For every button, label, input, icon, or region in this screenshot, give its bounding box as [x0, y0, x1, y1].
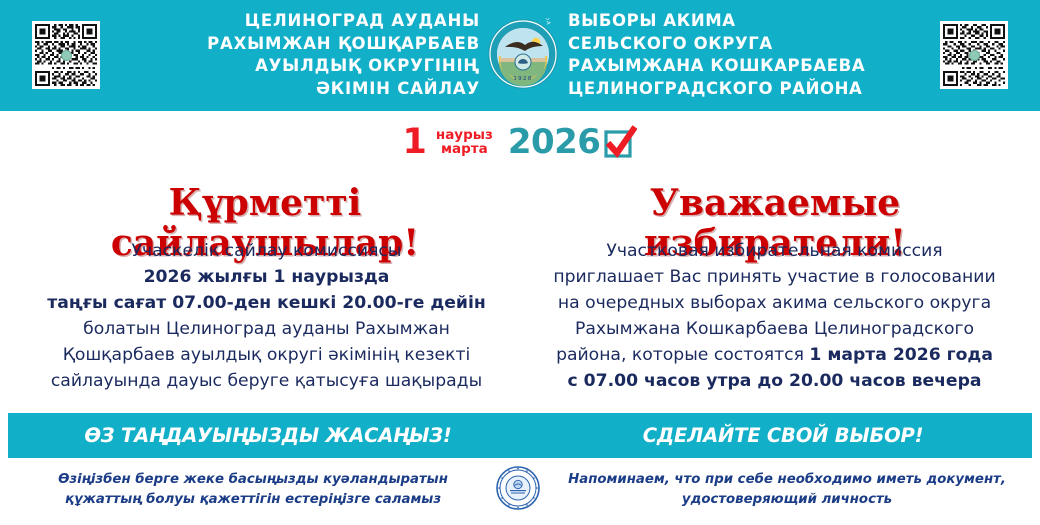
- slogan-band: ӨЗ ТАҢДАУЫҢЫЗДЫ ЖАСАҢЫЗ! СДЕЛАЙТЕ СВОЙ В…: [8, 413, 1032, 458]
- election-date-row: 1 наурыз марта 2026: [0, 118, 1040, 166]
- body-ru-line-5-highlight: 1 марта 2026 года: [809, 345, 993, 365]
- qr-code-right-image: [943, 24, 1005, 86]
- footer-kk-line-1: Өзіңізбен берге жеке басыңызды куәландыр…: [18, 470, 488, 490]
- qr-code-left[interactable]: [32, 21, 100, 89]
- footer-ru-line-2: удостоверяющий личность: [552, 490, 1022, 510]
- body-ru-line-2: приглашает Вас принять участие в голосов…: [522, 264, 1027, 290]
- slogan-kazakh: ӨЗ ТАҢДАУЫҢЫЗДЫ ЖАСАҢЫЗ!: [18, 424, 518, 447]
- slogan-russian: СДЕЛАЙТЕ СВОЙ ВЫБОР!: [538, 424, 1028, 447]
- header-title-russian: ВЫБОРЫ АКИМА СЕЛЬСКОГО ОКРУГА РАХЫМЖАНА …: [568, 10, 958, 100]
- header-title-kk-line-3: АУЫЛДЫҚ ОКРУГІНІҢ: [150, 55, 480, 78]
- header-band: ЦЕЛИНОГРАД АУДАНЫ РАХЫМЖАН ҚОШҚАРБАЕВ АУ…: [0, 0, 1040, 111]
- body-ru-line-3: на очередных выборах акима сельского окр…: [522, 290, 1027, 316]
- body-kk-line-1: Учаскелік сайлау комиссиясы: [14, 238, 519, 264]
- header-title-ru-line-4: ЦЕЛИНОГРАДСКОГО РАЙОНА: [568, 78, 958, 101]
- body-kk-line-6: сайлауында дауыс беруге қатысуға шақырад…: [14, 368, 519, 394]
- body-text-kazakh: Учаскелік сайлау комиссиясы 2026 жылғы 1…: [14, 238, 519, 394]
- election-year: 2026: [508, 125, 601, 159]
- body-text-russian: Участковая избирательная комиссия пригла…: [522, 238, 1027, 394]
- qr-center-logo: [61, 50, 72, 61]
- body-kk-line-4: болатын Целиноград ауданы Рахымжан: [14, 316, 519, 342]
- qr-code-right[interactable]: [940, 21, 1008, 89]
- qr-code-left-image: [35, 24, 97, 86]
- election-day-number: 1: [403, 125, 427, 160]
- celinograd-district-coat-of-arms-icon: 1928 SELINOGRAD AYDANY: [487, 18, 559, 90]
- body-kk-line-3: таңғы сағат 07.00-ден кешкі 20.00-ге дей…: [14, 290, 519, 316]
- body-ru-line-5-plain: района, которые состоятся: [556, 345, 809, 365]
- header-title-kk-line-4: ӘКІМІН САЙЛАУ: [150, 78, 480, 101]
- election-commission-seal-icon: [496, 466, 540, 510]
- election-month-russian: марта: [436, 142, 493, 157]
- qr-center-logo: [969, 50, 980, 61]
- coat-of-arms-year: 1928: [513, 76, 532, 82]
- checked-ballot-box-icon: [601, 124, 637, 160]
- election-month-kazakh: наурыз: [436, 128, 493, 143]
- body-ru-line-6: с 07.00 часов утра до 20.00 часов вечера: [522, 368, 1027, 394]
- footer-note-kazakh: Өзіңізбен берге жеке басыңызды куәландыр…: [18, 470, 488, 510]
- election-month-names: наурыз марта: [436, 128, 493, 157]
- body-ru-line-5: района, которые состоятся 1 марта 2026 г…: [522, 342, 1027, 368]
- body-ru-line-1: Участковая избирательная комиссия: [522, 238, 1027, 264]
- body-kk-line-2: 2026 жылғы 1 наурызда: [14, 264, 519, 290]
- header-title-kk-line-1: ЦЕЛИНОГРАД АУДАНЫ: [150, 10, 480, 33]
- header-title-kk-line-2: РАХЫМЖАН ҚОШҚАРБАЕВ: [150, 33, 480, 56]
- header-title-kazakh: ЦЕЛИНОГРАД АУДАНЫ РАХЫМЖАН ҚОШҚАРБАЕВ АУ…: [150, 10, 480, 100]
- footer-note-russian: Напоминаем, что при себе необходимо имет…: [552, 470, 1022, 510]
- footer-ru-line-1: Напоминаем, что при себе необходимо имет…: [552, 470, 1022, 490]
- header-title-ru-line-1: ВЫБОРЫ АКИМА: [568, 10, 958, 33]
- body-kk-line-5: Қошқарбаев ауылдық округі әкімінің кезек…: [14, 342, 519, 368]
- header-title-ru-line-3: РАХЫМЖАНА КОШКАРБАЕВА: [568, 55, 958, 78]
- footer-kk-line-2: құжаттың болуы қажеттігін естеріңізге са…: [18, 490, 488, 510]
- body-ru-line-4: Рахымжана Кошкарбаева Целиноградского: [522, 316, 1027, 342]
- header-title-ru-line-2: СЕЛЬСКОГО ОКРУГА: [568, 33, 958, 56]
